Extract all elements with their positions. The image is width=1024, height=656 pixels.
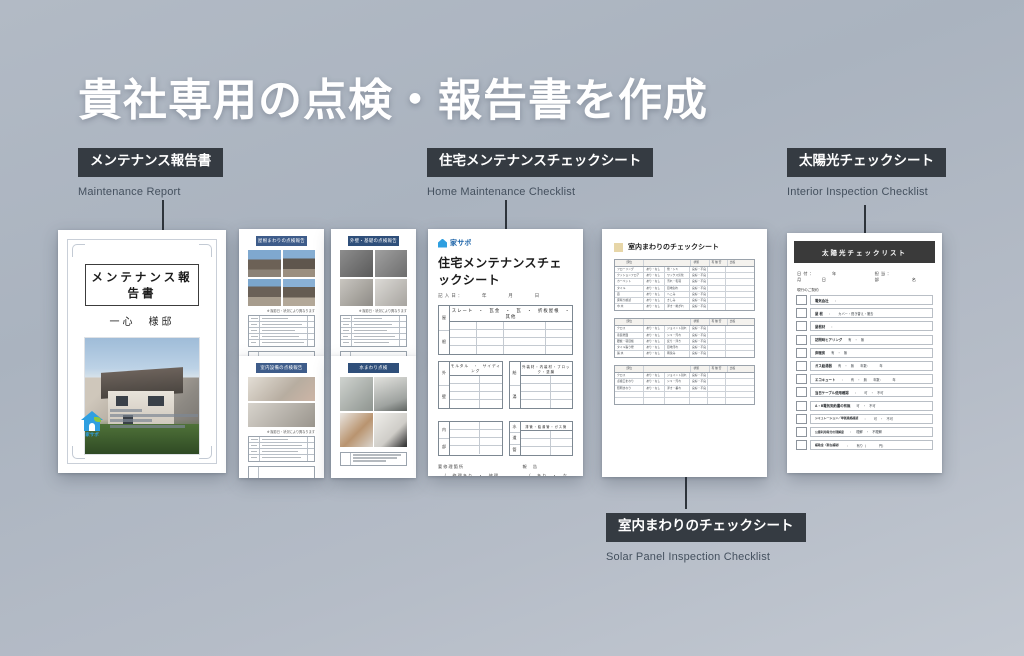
callout-chip-maintenance-report: メンテナンス報告書	[78, 148, 223, 177]
photo-thumb[interactable]	[374, 413, 407, 447]
footer-report-label: 報 告	[523, 464, 573, 470]
corner-ornament-icon	[199, 446, 212, 459]
checkbox[interactable]	[796, 295, 807, 305]
mini-page-title: 水まわり点検	[348, 363, 399, 373]
row-label: ガス給湯器	[815, 363, 832, 368]
row-value: 可 ・ 不可	[856, 403, 875, 408]
photo-thumb[interactable]	[283, 279, 316, 306]
row-value: ：	[831, 324, 834, 329]
side-char: 壁	[439, 386, 449, 409]
solar-person-line: 担当： 部 名	[875, 271, 932, 283]
logo-text: 家サポ	[81, 432, 103, 438]
photo-window-shape	[148, 396, 164, 406]
side-char: 道	[510, 433, 520, 444]
row-label: 電気会社	[815, 298, 829, 303]
checkbox[interactable]	[796, 348, 807, 358]
solar-row[interactable]: 屋根材：	[796, 321, 933, 331]
promo-stage: 貴社専用の点検・報告書を作成 メンテナンス報告書 Maintenance Rep…	[0, 0, 1024, 656]
row-value: ： 有 ・ 無 年数： 年	[841, 377, 895, 382]
photo-thumb[interactable]	[375, 250, 408, 277]
solar-row[interactable]: 屋 根： カバー・葺き替え・撤去	[796, 308, 933, 318]
document-roof-photo-report[interactable]: 屋根まわりの点検報告 ※ 撮影日・状況により異なります	[239, 229, 324, 356]
section-ceiling: 部位 状態 有 無 否 比較 クロスあり・なしジョイント割れ良好・不良 点検口ま…	[614, 365, 755, 405]
photo-thumb[interactable]	[248, 279, 281, 306]
cover-owner: 一心 様邸	[79, 313, 205, 328]
solar-row[interactable]: A・B電気契約書の有無可 ・ 不可	[796, 401, 933, 411]
footer-repair-options: （ 修理あり ・ 修理なし ）	[442, 473, 501, 476]
document-wall-photo-report[interactable]: 外壁・基礎の点検報告 ※ 撮影日・状況により異なります	[331, 229, 416, 356]
table-row[interactable]: 漏 水あり・なし雨染み良好・不良	[615, 351, 754, 357]
col-header: 比較	[728, 319, 754, 325]
side-char: 内	[439, 422, 449, 439]
reflection-doc2d: 水まわり点検	[331, 478, 416, 588]
col-header: 有 無 否	[710, 319, 728, 325]
checkbox[interactable]	[796, 308, 807, 318]
mini-table	[340, 315, 407, 347]
brand-home-support: 家サポ	[438, 238, 573, 248]
solar-category-label: 現行のご契約	[797, 288, 942, 293]
row-value: ： 可 ・ 不可	[855, 390, 884, 395]
side-char: 外	[439, 362, 449, 386]
side-char: 屋	[439, 306, 449, 331]
checkbox[interactable]	[796, 427, 807, 437]
row-label: 補助金（現在補助）	[815, 443, 841, 447]
side-char: 給	[510, 362, 520, 386]
reflection-doc2c: 室内設備の点検報告 ※ 撮影日・状況により異なります	[239, 478, 324, 588]
solar-row[interactable]: エコキュート： 有 ・ 無 年数： 年	[796, 374, 933, 384]
mini-note: ※ 撮影日・状況により異なります	[244, 429, 315, 434]
connector-solar-panel-inspection-checklist	[685, 477, 687, 509]
checkbox[interactable]	[796, 387, 807, 397]
cover-title: メンテナンス報告書	[85, 264, 199, 306]
callout-solar-panel-inspection-checklist: 室内まわりのチェックシート Solar Panel Inspection Che…	[606, 513, 806, 563]
callout-interior-inspection-checklist: 太陽光チェックシート Interior Inspection Checklist	[787, 148, 946, 198]
callout-chip-home-maintenance-checklist: 住宅メンテナンスチェックシート	[427, 148, 653, 177]
brand-text: 家サポ	[450, 238, 472, 248]
accent-square-icon	[614, 243, 623, 252]
photo-thumb[interactable]	[374, 377, 407, 411]
solar-date-line: 日付： 年 月 日	[797, 271, 851, 283]
photo-thumb[interactable]	[283, 250, 316, 277]
table-row[interactable]	[615, 398, 754, 404]
section-exterior-right: 給湯 外装材・内装材・ブロック・塗膜	[509, 361, 574, 409]
mini-note: ※ 撮影日・状況により異なります	[336, 308, 407, 313]
section-header: 外装材・内装材・ブロック・塗膜	[521, 362, 573, 376]
row-value: ： カバー・葺き替え・撤去	[829, 311, 874, 316]
col-header: 部位	[615, 260, 644, 266]
solar-row[interactable]: 公庫利用得分の理解度： 理解 ・ 不理解	[796, 427, 933, 437]
photo-thumb[interactable]	[248, 377, 315, 401]
checklist-date-line: 記入日： 年 月 日	[438, 293, 573, 299]
checkbox[interactable]	[796, 401, 807, 411]
col-header: 部位	[615, 319, 644, 325]
solar-row[interactable]: 補助金（現在補助）： 有り（ 円）	[796, 440, 933, 450]
checkbox[interactable]	[796, 361, 807, 371]
reflection-doc3: 家サポ 住宅メンテナンスチェックシート 記入日： 年 月 日 屋 根 スレート …	[428, 476, 583, 626]
checkbox[interactable]	[796, 374, 807, 384]
row-value: 有 ・ 無	[848, 337, 864, 342]
col-header: 比較	[728, 366, 754, 372]
section-exterior: 外壁 モルタル ・ サイディング	[438, 361, 503, 409]
document-home-maintenance-checklist[interactable]: 家サポ 住宅メンテナンスチェックシート 記入日： 年 月 日 屋 根 スレート …	[428, 229, 583, 476]
corner-ornament-icon	[199, 244, 212, 257]
row-label: 公庫利用得分の理解度	[815, 430, 844, 434]
solar-band-title: 太陽光チェックリスト	[794, 241, 935, 263]
photo-thumb[interactable]	[340, 250, 373, 277]
solar-row[interactable]: ガス給湯器有 ・ 無 年数： 年	[796, 361, 933, 371]
cover-frame: メンテナンス報告書 一心 様邸 家サポ	[67, 239, 217, 464]
row-value: 有 ・ 無 年数： 年	[838, 363, 883, 368]
section-floor: 部位 状態 有 無 否 比較 フローリングあり・なし傷・シミ良好・不良 クッショ…	[614, 259, 755, 311]
section-header-row: 部位 状態 有 無 否 比較	[615, 319, 754, 326]
section-side-label: 屋 根	[439, 306, 450, 354]
reflection-doc1: メンテナンス報告書 一心 様邸 家サポ	[58, 473, 226, 623]
document-maintenance-report-cover[interactable]: メンテナンス報告書 一心 様邸 家サポ	[58, 230, 226, 473]
callout-sub-solar-panel-inspection-checklist: Solar Panel Inspection Checklist	[606, 551, 806, 563]
photo-thumb[interactable]	[340, 413, 373, 447]
section-header: モルタル ・ サイディング	[450, 362, 502, 376]
photo-grid	[340, 250, 407, 306]
table-row[interactable]: 巾 木あり・なし浮き・剥がれ良好・不良	[615, 304, 754, 310]
cover-footer: 家サポ	[81, 409, 206, 433]
company-address-block	[110, 409, 206, 430]
col-header: 比較	[728, 260, 754, 266]
reflection-doc5: 太陽光チェックリスト 日付： 年 月 日 担当： 部 名 現行のご契約 電気会社…	[787, 473, 942, 623]
callout-sub-interior-inspection-checklist: Interior Inspection Checklist	[787, 186, 946, 198]
photo-grid	[248, 250, 315, 306]
callout-maintenance-report: メンテナンス報告書 Maintenance Report	[78, 148, 223, 198]
photo-thumb[interactable]	[375, 279, 408, 306]
document-water-photo-report[interactable]: 水まわり点検	[331, 356, 416, 478]
mini-table	[248, 436, 315, 462]
photo-grid	[340, 377, 407, 447]
footer-repair-label: 要修理箇所	[438, 464, 505, 470]
mini-page-title: 室内設備の点検報告	[256, 363, 307, 373]
row-label: A・B電気契約書の有無	[815, 403, 850, 408]
side-char: 水	[510, 422, 520, 433]
checkbox[interactable]	[796, 321, 807, 331]
checkbox[interactable]	[796, 414, 807, 424]
mini-footer-note	[248, 466, 315, 478]
row-label: 当日ケーブル使用確認	[815, 390, 849, 395]
footer-report-options: （ あり ・ なし ）	[527, 473, 569, 476]
col-header: 部位	[615, 366, 644, 372]
side-char: 管	[510, 445, 520, 455]
section-wall: 部位 状態 有 無 否 比較 クロスあり・なしジョイント割れ良好・不良 塗装壁面…	[614, 318, 755, 358]
corner-ornament-icon	[72, 244, 85, 257]
row-label: 屋 根	[815, 311, 823, 316]
mini-footer-note	[340, 452, 407, 466]
connector-interior-inspection-checklist	[864, 205, 866, 233]
col-header: 有 無 否	[710, 366, 728, 372]
mini-note: ※ 撮影日・状況により異なります	[244, 308, 315, 313]
solar-row[interactable]: 床暖房有 ・ 無	[796, 348, 933, 358]
photo-thumb[interactable]	[340, 377, 373, 411]
interior-checklist-title-row: 室内まわりのチェックシート	[614, 242, 755, 252]
photo-thumb[interactable]	[248, 250, 281, 277]
col-header: 状態	[691, 366, 709, 372]
solar-row[interactable]: 当日ケーブル使用確認： 可 ・ 不可	[796, 387, 933, 397]
mini-page-title: 屋根まわりの点検報告	[256, 236, 307, 246]
callout-sub-home-maintenance-checklist: Home Maintenance Checklist	[427, 186, 653, 198]
home-logo-icon: 家サポ	[81, 411, 103, 433]
footer-options: 要修理箇所 （ 修理あり ・ 修理なし ） 報 告 （ あり ・ なし ）	[438, 464, 573, 476]
row-value: ： 理解 ・ 不理解	[850, 429, 882, 434]
row-value: ：	[835, 298, 838, 303]
photo-thumb[interactable]	[340, 279, 373, 306]
solar-row[interactable]: 訪問時ヒアリング有 ・ 無	[796, 335, 933, 345]
row-value: 有 ・ 無	[831, 350, 847, 355]
row-value: ： 可 ・ 不可	[864, 416, 893, 421]
callout-home-maintenance-checklist: 住宅メンテナンスチェックシート Home Maintenance Checkli…	[427, 148, 653, 198]
solar-row[interactable]: シミュレーション／単価連絡確認： 可 ・ 不可	[796, 414, 933, 424]
side-char: 根	[439, 331, 449, 355]
col-header: 有 無 否	[710, 260, 728, 266]
document-interior-photo-report[interactable]: 室内設備の点検報告 ※ 撮影日・状況により異なります	[239, 356, 324, 478]
section-header-row: 部位 状態 有 無 否 比較	[615, 366, 754, 373]
interior-checklist-title: 室内まわりのチェックシート	[628, 242, 719, 252]
section-header: スレート ・ 瓦金 ・ 瓦 ・ 折板屋根 ・ 其他	[450, 306, 572, 322]
connector-home-maintenance-checklist	[505, 200, 507, 230]
mini-table	[248, 315, 315, 347]
connector-maintenance-report	[162, 200, 164, 230]
checkbox[interactable]	[796, 335, 807, 345]
section-header: 排管・給湯管・ガス管	[521, 422, 573, 431]
side-char: 部	[439, 439, 449, 455]
checklist-title: 住宅メンテナンスチェックシート	[438, 254, 573, 288]
section-roof: 屋 根 スレート ・ 瓦金 ・ 瓦 ・ 折板屋根 ・ 其他	[438, 305, 573, 355]
photo-window-shape	[116, 396, 129, 406]
callout-chip-solar-panel-inspection-checklist: 室内まわりのチェックシート	[606, 513, 806, 542]
row-label: エコキュート	[815, 377, 835, 382]
solar-row[interactable]: 電気会社：	[796, 295, 933, 305]
side-char: 湯	[510, 386, 520, 409]
section-interior: 内部	[438, 421, 503, 456]
mini-page-title: 外壁・基礎の点検報告	[348, 236, 399, 246]
callout-sub-maintenance-report: Maintenance Report	[78, 186, 223, 198]
row-value: ： 有り（ 円）	[847, 443, 885, 448]
document-interior-checklist[interactable]: 室内まわりのチェックシート 部位 状態 有 無 否 比較 フローリングあり・なし…	[602, 229, 767, 477]
photo-grid	[248, 377, 315, 427]
row-label: 訪問時ヒアリング	[815, 337, 842, 342]
col-header: 状態	[691, 319, 709, 325]
section-interior-row: 内部 水道管 排管・給湯管・ガス管	[438, 415, 573, 456]
page-title: 貴社専用の点検・報告書を作成	[78, 64, 708, 128]
document-solar-checklist[interactable]: 太陽光チェックリスト 日付： 年 月 日 担当： 部 名 現行のご契約 電気会社…	[787, 233, 942, 473]
photo-thumb[interactable]	[248, 403, 315, 427]
section-exterior-row: 外壁 モルタル ・ サイディング 給湯 外装材・内装材・ブロック・塗膜	[438, 361, 573, 409]
row-label: 床暖房	[815, 350, 825, 355]
section-header-row: 部位 状態 有 無 否 比較	[615, 260, 754, 267]
section-plumbing: 水道管 排管・給湯管・ガス管	[509, 421, 574, 456]
callout-chip-interior-inspection-checklist: 太陽光チェックシート	[787, 148, 946, 177]
checkbox[interactable]	[796, 440, 807, 450]
row-label: 屋根材	[815, 324, 825, 329]
row-label: シミュレーション／単価連絡確認	[815, 417, 858, 420]
col-header: 状態	[691, 260, 709, 266]
home-logo-icon	[438, 239, 447, 248]
